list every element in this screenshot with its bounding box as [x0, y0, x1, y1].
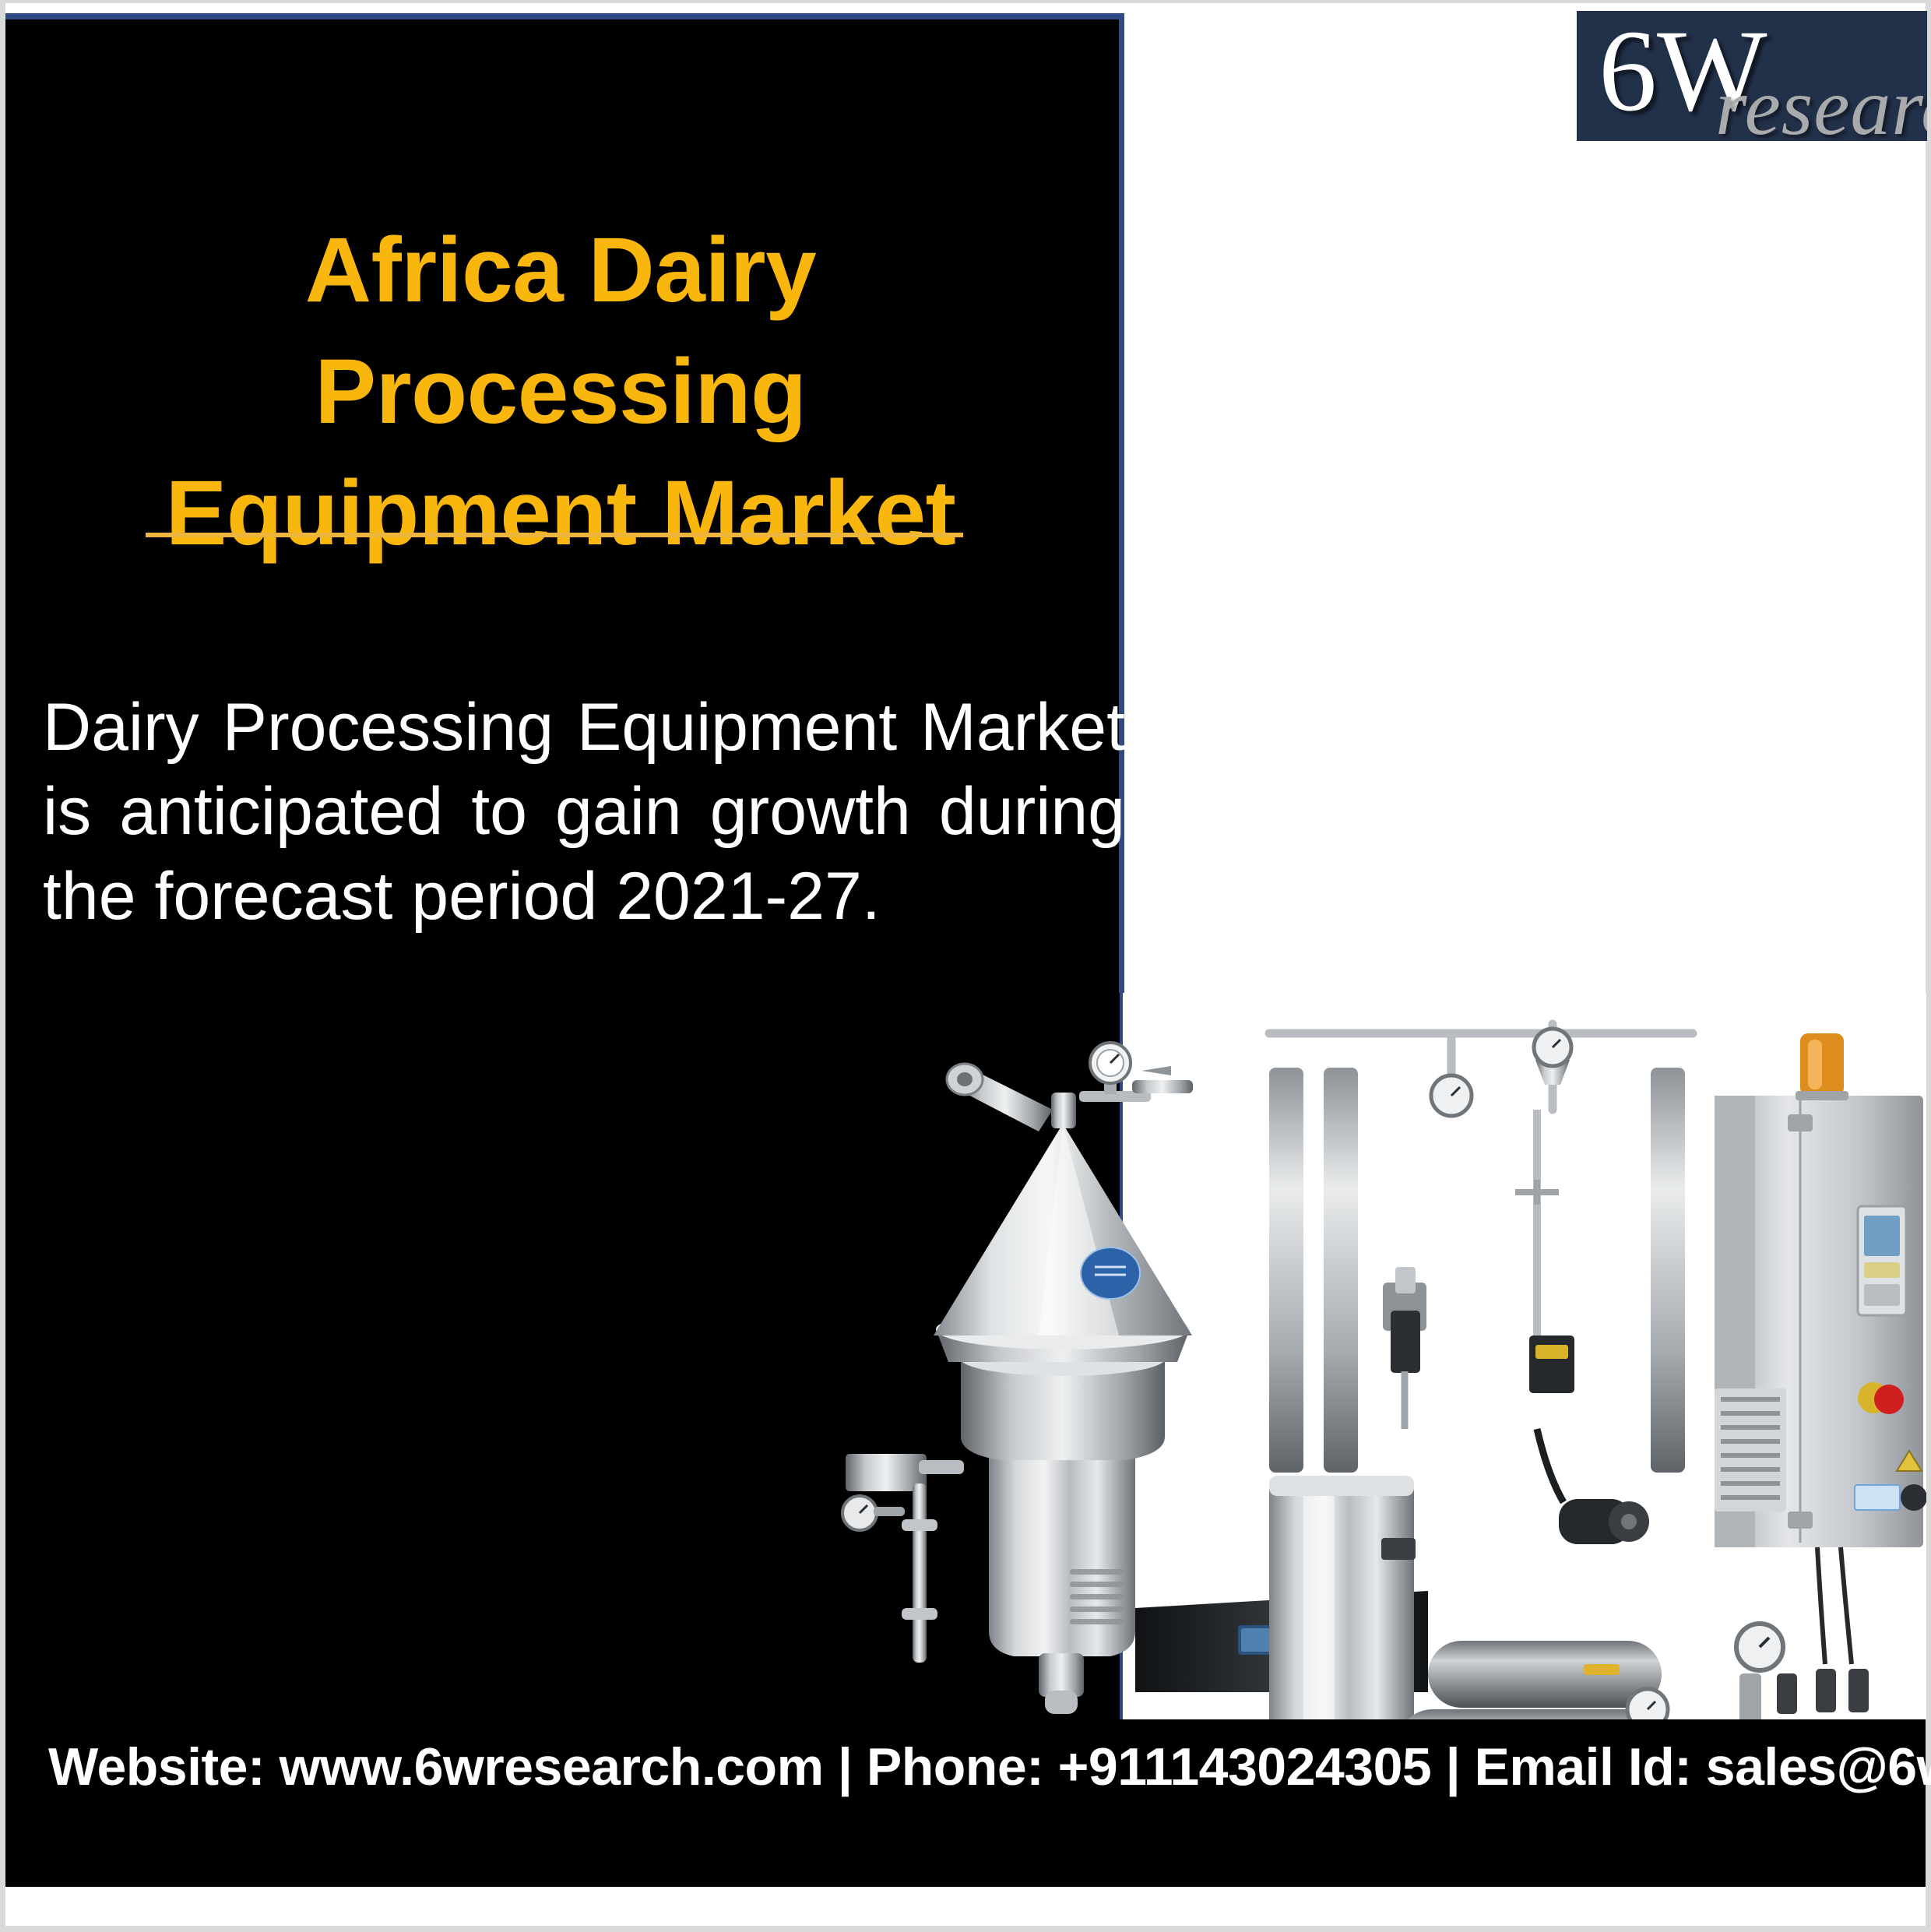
title-divider: [146, 533, 963, 537]
top-accent-rule: [5, 13, 1124, 19]
brand-logo[interactable]: 6W research: [1577, 11, 1927, 141]
footer-contact-text[interactable]: Website: www.6wresearch.com | Phone: +91…: [48, 1737, 1931, 1797]
contact-footer: Website: www.6wresearch.com | Phone: +91…: [5, 1719, 1926, 1887]
poster-page: 6W research Africa Dairy Processing Equi…: [0, 0, 1931, 1932]
page-title: Africa Dairy Processing Equipment Market: [70, 210, 1051, 574]
hero-body-text: Dairy Processing Equipment Market is ant…: [43, 685, 1125, 938]
logo-research-text: research: [1715, 67, 1927, 141]
equipment-illustration: [805, 993, 1926, 1719]
dairy-equipment-image: [805, 993, 1926, 1719]
